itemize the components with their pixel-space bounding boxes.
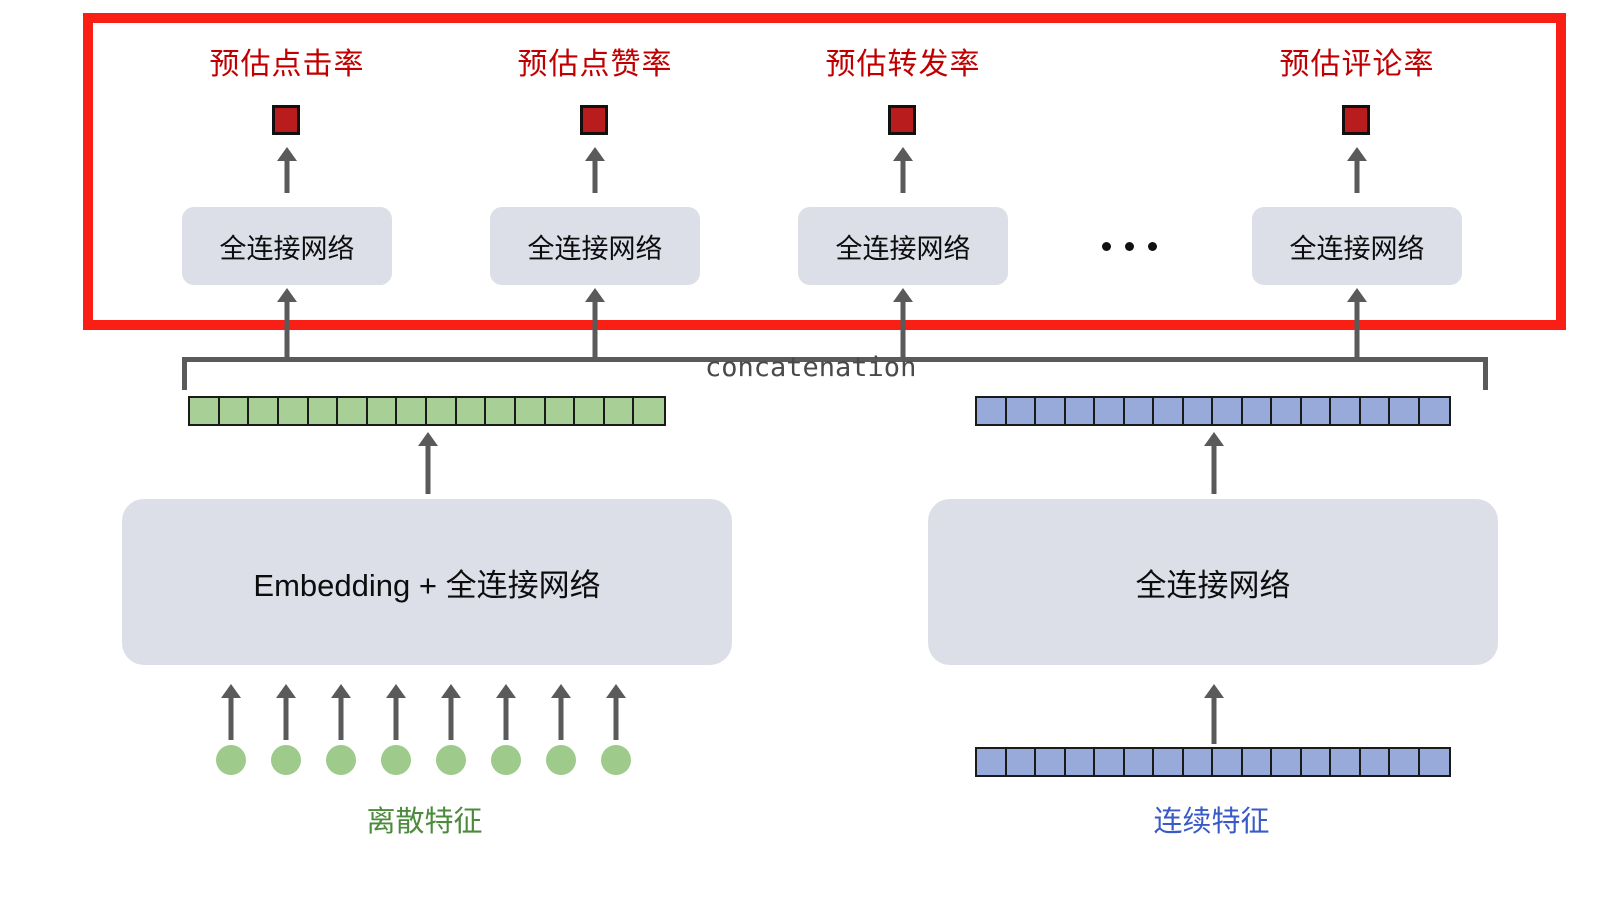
output-square-ctr xyxy=(272,105,300,135)
arrow-fc3-to-output xyxy=(893,147,913,193)
vector-cell xyxy=(977,749,1007,775)
vector-cell xyxy=(1361,749,1391,775)
concatenation-label: concatenation xyxy=(705,352,916,383)
fc-network-like-label: 全连接网络 xyxy=(528,227,663,266)
arrow-discrete-input-5 xyxy=(441,684,461,740)
task-title-like: 预估点赞率 xyxy=(455,48,735,82)
continuous-dense-vector xyxy=(975,396,1451,426)
vector-cell xyxy=(1036,398,1066,424)
vector-cell xyxy=(1036,749,1066,775)
output-square-forward xyxy=(888,105,916,135)
vector-cell xyxy=(1007,749,1037,775)
continuous-fc-label: 全连接网络 xyxy=(1136,560,1291,605)
discrete-feature-dot xyxy=(381,745,411,775)
vector-cell xyxy=(1420,749,1450,775)
vector-cell xyxy=(397,398,427,424)
arrow-fc-module-to-blue-vector xyxy=(1204,432,1224,494)
vector-cell xyxy=(1154,749,1184,775)
arrow-discrete-input-4 xyxy=(386,684,406,740)
arrow-discrete-input-3 xyxy=(331,684,351,740)
vector-cell xyxy=(1243,398,1273,424)
vector-cell xyxy=(1184,398,1214,424)
arrow-fc4-to-output xyxy=(1347,147,1367,193)
discrete-feature-dot xyxy=(326,745,356,775)
task-title-ctr: 预估点击率 xyxy=(147,48,427,82)
discrete-feature-dot xyxy=(601,745,631,775)
vector-cell xyxy=(1066,398,1096,424)
continuous-fc-module: 全连接网络 xyxy=(928,499,1498,665)
vector-cell xyxy=(427,398,457,424)
discrete-embedding-vector xyxy=(188,396,666,426)
vector-cell xyxy=(1095,749,1125,775)
vector-cell xyxy=(1213,398,1243,424)
vector-cell xyxy=(1154,398,1184,424)
ellipsis-more-tasks-icon xyxy=(1102,242,1157,251)
vector-cell xyxy=(1125,398,1155,424)
vector-cell xyxy=(1066,749,1096,775)
discrete-feature-dot xyxy=(546,745,576,775)
arrow-discrete-input-7 xyxy=(551,684,571,740)
fc-network-like: 全连接网络 xyxy=(490,207,700,285)
vector-cell xyxy=(1331,398,1361,424)
arrow-embed-module-to-green-vector xyxy=(418,432,438,494)
diagram-canvas: 预估点击率 全连接网络 预估点赞率 全连接网络 预估转发率 全连接网络 预估评论… xyxy=(0,0,1599,899)
vector-cell xyxy=(309,398,339,424)
concat-bracket-right-drop xyxy=(1483,357,1488,390)
vector-cell xyxy=(575,398,605,424)
discrete-feature-dot-row xyxy=(216,745,631,775)
vector-cell xyxy=(605,398,635,424)
fc-network-forward: 全连接网络 xyxy=(798,207,1008,285)
vector-cell xyxy=(249,398,279,424)
arrow-discrete-input-1 xyxy=(221,684,241,740)
vector-cell xyxy=(190,398,220,424)
fc-network-comment: 全连接网络 xyxy=(1252,207,1462,285)
arrow-continuous-input-to-fc xyxy=(1204,684,1224,744)
vector-cell xyxy=(1007,398,1037,424)
continuous-feature-input-vector xyxy=(975,747,1451,777)
vector-cell xyxy=(338,398,368,424)
vector-cell xyxy=(1331,749,1361,775)
arrow-concat-to-fc3 xyxy=(893,288,913,360)
task-title-forward: 预估转发率 xyxy=(763,48,1043,82)
arrow-concat-to-fc2 xyxy=(585,288,605,360)
vector-cell xyxy=(220,398,250,424)
vector-cell xyxy=(457,398,487,424)
arrow-discrete-input-6 xyxy=(496,684,516,740)
vector-cell xyxy=(1390,749,1420,775)
vector-cell xyxy=(368,398,398,424)
arrow-discrete-input-2 xyxy=(276,684,296,740)
vector-cell xyxy=(1243,749,1273,775)
vector-cell xyxy=(1095,398,1125,424)
arrow-concat-to-fc4 xyxy=(1347,288,1367,360)
task-title-comment: 预估评论率 xyxy=(1217,48,1497,82)
arrow-fc1-to-output xyxy=(277,147,297,193)
fc-network-forward-label: 全连接网络 xyxy=(836,227,971,266)
concat-bracket-left-drop xyxy=(182,357,187,390)
discrete-feature-dot xyxy=(491,745,521,775)
vector-cell xyxy=(279,398,309,424)
vector-cell xyxy=(486,398,516,424)
vector-cell xyxy=(1361,398,1391,424)
embedding-plus-fc-module: Embedding + 全连接网络 xyxy=(122,499,732,665)
discrete-feature-dot xyxy=(216,745,246,775)
vector-cell xyxy=(516,398,546,424)
arrow-concat-to-fc1 xyxy=(277,288,297,360)
vector-cell xyxy=(1420,398,1450,424)
discrete-feature-dot xyxy=(271,745,301,775)
output-square-comment xyxy=(1342,105,1370,135)
vector-cell xyxy=(1390,398,1420,424)
embedding-plus-fc-label: Embedding + 全连接网络 xyxy=(253,560,600,605)
arrow-discrete-input-8 xyxy=(606,684,626,740)
continuous-feature-caption: 连续特征 xyxy=(1069,798,1354,840)
vector-cell xyxy=(1272,398,1302,424)
vector-cell xyxy=(1272,749,1302,775)
vector-cell xyxy=(634,398,664,424)
fc-network-ctr-label: 全连接网络 xyxy=(220,227,355,266)
vector-cell xyxy=(1125,749,1155,775)
fc-network-ctr: 全连接网络 xyxy=(182,207,392,285)
vector-cell xyxy=(1213,749,1243,775)
arrow-fc2-to-output xyxy=(585,147,605,193)
vector-cell xyxy=(1302,398,1332,424)
vector-cell xyxy=(977,398,1007,424)
fc-network-comment-label: 全连接网络 xyxy=(1290,227,1425,266)
vector-cell xyxy=(1184,749,1214,775)
output-square-like xyxy=(580,105,608,135)
discrete-feature-caption: 离散特征 xyxy=(282,798,567,840)
discrete-feature-dot xyxy=(436,745,466,775)
vector-cell xyxy=(1302,749,1332,775)
vector-cell xyxy=(546,398,576,424)
